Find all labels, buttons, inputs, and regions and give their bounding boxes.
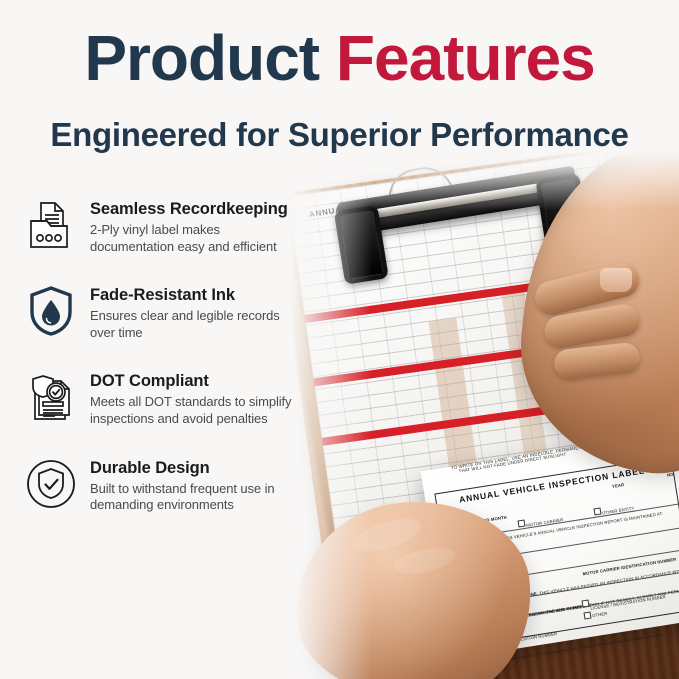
documents-folder-icon: [22, 196, 80, 254]
page-title-part-features: Features: [336, 22, 595, 94]
checkbox-license[interactable]: [581, 599, 589, 607]
feature-desc-line2: inspections and avoid penalties: [90, 411, 291, 428]
feature-heading: DOT Compliant: [90, 372, 291, 391]
feature-desc-line1: Built to withstand frequent use in: [90, 481, 275, 498]
feature-heading: Fade-Resistant Ink: [90, 286, 280, 305]
checkbox-other-entity[interactable]: [593, 507, 601, 515]
page-subtitle: Engineered for Superior Performance: [0, 116, 679, 154]
checkbox-motor-carrier[interactable]: [517, 519, 525, 527]
feature-desc-line2: documentation easy and efficient: [90, 239, 288, 256]
feature-item-dot-compliant: DOT Compliant Meets all DOT standards to…: [22, 368, 342, 427]
feature-text: Fade-Resistant Ink Ensures clear and leg…: [90, 282, 280, 341]
feature-item-durable-design: Durable Design Built to withstand freque…: [22, 455, 342, 514]
thumbnail: [600, 268, 632, 292]
circle-shield-check-icon: [22, 455, 80, 513]
feature-heading: Seamless Recordkeeping: [90, 200, 288, 219]
page-title-part-product: Product: [84, 22, 336, 94]
shield-water-drop-icon: [22, 282, 80, 340]
feature-desc-line1: Meets all DOT standards to simplify: [90, 394, 291, 411]
feature-desc-line2: demanding environments: [90, 497, 275, 514]
page-title: Product Features: [0, 26, 679, 90]
product-features-infographic: BUCK U.S. VEHICLE HISTORY RECORD VEHICLE…: [0, 0, 679, 679]
document-shield-check-icon: [22, 368, 80, 426]
feature-text: Seamless Recordkeeping 2-Ply vinyl label…: [90, 196, 288, 255]
feature-item-fade-resistant-ink: Fade-Resistant Ink Ensures clear and leg…: [22, 282, 342, 341]
feature-list: Seamless Recordkeeping 2-Ply vinyl label…: [22, 196, 342, 541]
feature-desc-line2: over time: [90, 325, 280, 342]
feature-desc-line1: Ensures clear and legible records: [90, 308, 280, 325]
checkbox-other[interactable]: [583, 611, 591, 619]
feature-item-recordkeeping: Seamless Recordkeeping 2-Ply vinyl label…: [22, 196, 342, 255]
feature-desc-line1: 2-Ply vinyl label makes: [90, 222, 288, 239]
feature-text: Durable Design Built to withstand freque…: [90, 455, 275, 514]
feature-heading: Durable Design: [90, 459, 275, 478]
feature-text: DOT Compliant Meets all DOT standards to…: [90, 368, 291, 427]
